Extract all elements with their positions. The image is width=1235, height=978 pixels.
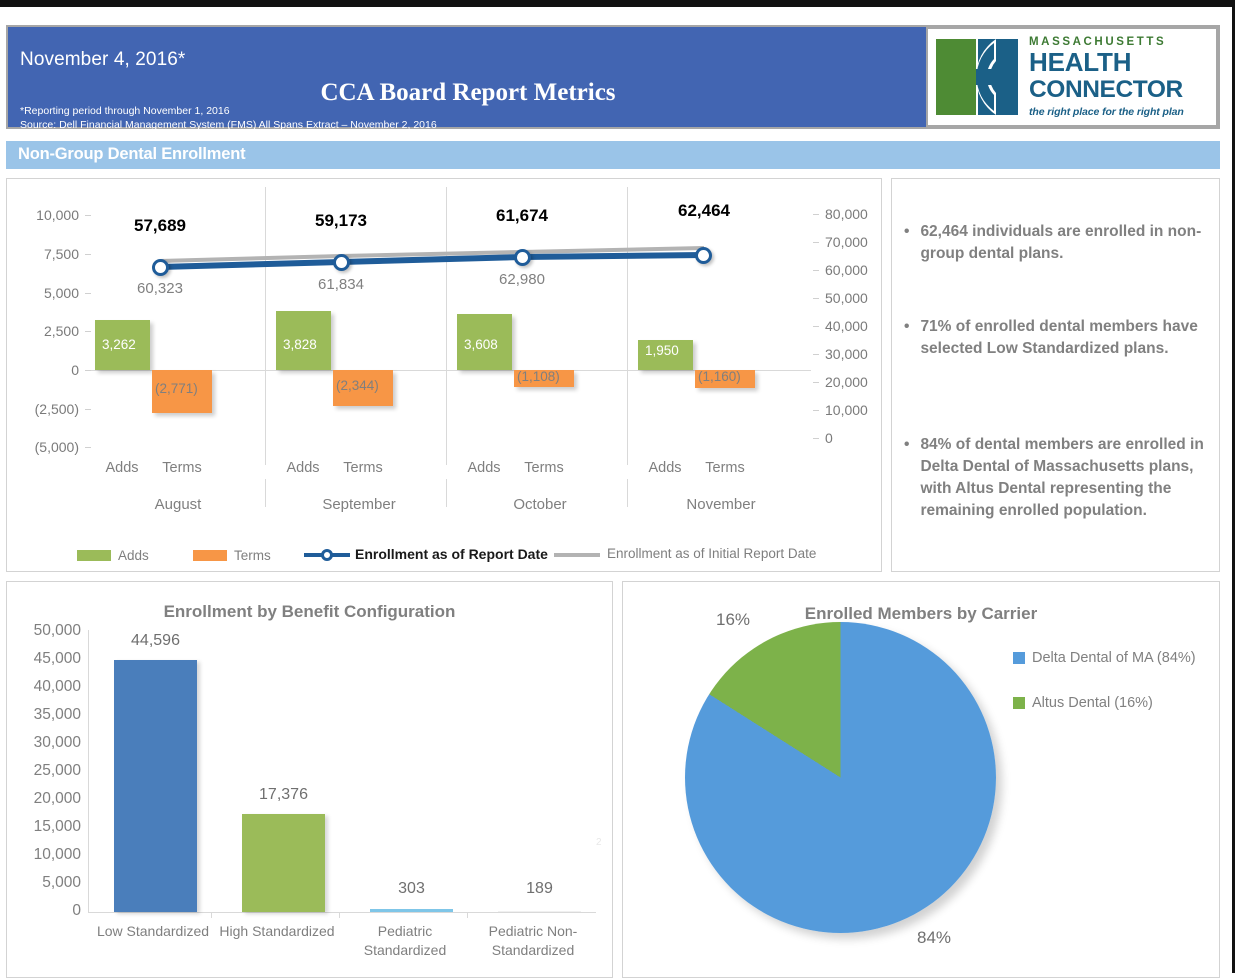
section-header-non-group-dental: Non-Group Dental Enrollment: [6, 141, 1220, 169]
bar-y-tick-20000: 20,000: [7, 790, 81, 808]
bar-y-tick-10000: 10,000: [7, 846, 81, 864]
point-label-initial-august: 60,323: [105, 280, 215, 297]
month-label-august: August: [91, 496, 265, 513]
point-label-report-october: 61,674: [462, 206, 582, 226]
bar-y-tick-50000: 50,000: [7, 622, 81, 640]
bar-x-tickmark: [211, 912, 212, 918]
bar-pediatric-standardized: [370, 909, 453, 912]
bar-x-axis-line: [88, 912, 596, 913]
point-label-report-november: 62,464: [644, 201, 764, 221]
bullet-icon: •: [904, 221, 909, 265]
note-item-1: • 62,464 individuals are enrolled in non…: [904, 221, 1204, 265]
bar-y-tick-25000: 25,000: [7, 762, 81, 780]
bar-x-tickmark: [467, 912, 468, 918]
month-separator: [446, 479, 447, 507]
bar-y-tick-40000: 40,000: [7, 678, 81, 696]
pie-legend-item-delta[interactable]: Delta Dental of MA (84%): [1013, 650, 1196, 666]
note-text-2: 71% of enrolled dental members have sele…: [920, 316, 1204, 360]
header-banner: November 4, 2016* CCA Board Report Metri…: [8, 27, 928, 127]
line-marker-september: [333, 254, 350, 271]
bar-x-label-high-standardized: High Standardized: [215, 922, 339, 941]
note-item-2: • 71% of enrolled dental members have se…: [904, 316, 1204, 360]
x-label-terms-august: Terms: [147, 460, 217, 476]
report-header: November 4, 2016* CCA Board Report Metri…: [6, 25, 1220, 129]
bullet-icon: •: [904, 434, 909, 522]
footnote-line-2: Source: Dell Financial Management System…: [20, 119, 437, 133]
bar-chart-title: Enrollment by Benefit Configuration: [7, 602, 612, 622]
x-label-terms-october: Terms: [509, 460, 579, 476]
bar-y-axis-line: [88, 630, 89, 913]
header-footnote: *Reporting period through November 1, 20…: [20, 105, 437, 132]
pie-legend-label-altus: Altus Dental (16%): [1032, 695, 1153, 711]
legend-label-terms: Terms: [234, 548, 271, 563]
footnote-line-1: *Reporting period through November 1, 20…: [20, 105, 437, 119]
pie-slices: [685, 622, 996, 933]
health-connector-logo: MASSACHUSETTS HEALTH CONNECTOR the right…: [926, 27, 1218, 127]
point-label-report-september: 59,173: [281, 211, 401, 231]
pie-legend-swatch-delta-icon: [1013, 652, 1025, 664]
legend-swatch-adds-icon: [77, 550, 111, 561]
pie-label-delta: 84%: [917, 928, 951, 948]
bar-x-label-pediatric-non-standardized: Pediatric Non-Standardized: [471, 922, 595, 960]
logo-h-mark-icon: [934, 37, 1020, 117]
logo-line-health: HEALTH: [1029, 49, 1184, 76]
legend-label-report-date: Enrollment as of Report Date: [355, 546, 548, 562]
bullet-icon: •: [904, 316, 909, 360]
x-label-terms-november: Terms: [690, 460, 760, 476]
line-marker-october: [514, 249, 531, 266]
bar-x-tickmark: [339, 912, 340, 918]
chart-artifact: 2: [596, 837, 602, 848]
logo-tagline: the right place for the right plan: [1029, 107, 1184, 118]
chart-enrolled-members-by-carrier: Enrolled Members by Carrier 16% 84% Delt…: [622, 581, 1220, 978]
month-separator: [627, 479, 628, 507]
x-label-terms-september: Terms: [328, 460, 398, 476]
legend-label-initial-report-date: Enrollment as of Initial Report Date: [607, 546, 816, 561]
pie-chart-title: Enrolled Members by Carrier: [623, 604, 1219, 624]
pie-legend-label-delta: Delta Dental of MA (84%): [1032, 650, 1196, 666]
pie-legend-swatch-altus-icon: [1013, 697, 1025, 709]
legend-line-marker-icon: [304, 547, 350, 561]
point-label-initial-september: 61,834: [286, 276, 396, 293]
bar-y-tick-5000: 5,000: [7, 874, 81, 892]
legend-item-initial-report-date[interactable]: Enrollment as of Initial Report Date: [554, 546, 816, 561]
note-text-3: 84% of dental members are enrolled in De…: [920, 434, 1204, 522]
key-takeaways-panel: • 62,464 individuals are enrolled in non…: [891, 178, 1220, 572]
bar-y-tick-45000: 45,000: [7, 650, 81, 668]
line-marker-november: [695, 247, 712, 264]
bar-value-pediatric-non-standardized: 189: [498, 880, 581, 898]
month-label-october: October: [453, 496, 627, 513]
bar-y-tick-35000: 35,000: [7, 706, 81, 724]
chart-enrollment-combo: 0 10,000 7,500 5,000 2,500 (2,500) (5,00…: [6, 178, 882, 572]
month-label-november: November: [634, 496, 808, 513]
legend-item-terms[interactable]: Terms: [193, 548, 271, 563]
legend-item-report-date[interactable]: Enrollment as of Report Date: [304, 546, 548, 562]
legend-line-gray-icon: [554, 547, 600, 561]
legend-item-adds[interactable]: Adds: [77, 548, 149, 563]
pie-legend-item-altus[interactable]: Altus Dental (16%): [1013, 695, 1153, 711]
legend-label-adds: Adds: [118, 548, 149, 563]
logo-wordmark: MASSACHUSETTS HEALTH CONNECTOR the right…: [1029, 37, 1184, 117]
chart-enrollment-by-benefit-configuration: Enrollment by Benefit Configuration 50,0…: [6, 581, 613, 978]
note-text-1: 62,464 individuals are enrolled in non-g…: [920, 221, 1204, 265]
month-separator: [265, 479, 266, 507]
legend-swatch-terms-icon: [193, 550, 227, 561]
note-item-3: • 84% of dental members are enrolled in …: [904, 434, 1204, 522]
pie-label-altus: 16%: [716, 610, 750, 630]
report-page: November 4, 2016* CCA Board Report Metri…: [0, 0, 1235, 973]
bar-pediatric-non-standardized: [498, 911, 581, 912]
bar-value-pediatric-standardized: 303: [370, 880, 453, 898]
bar-value-high-standardized: 17,376: [242, 786, 325, 804]
page-title: CCA Board Report Metrics: [8, 79, 928, 107]
logo-line-connector: CONNECTOR: [1029, 76, 1184, 103]
bar-x-label-pediatric-standardized: Pediatric Standardized: [347, 922, 463, 960]
point-label-report-august: 57,689: [100, 216, 220, 236]
report-date: November 4, 2016*: [20, 49, 185, 71]
bar-value-low-standardized: 44,596: [114, 632, 197, 650]
bar-y-tick-15000: 15,000: [7, 818, 81, 836]
bar-low-standardized: [114, 660, 197, 912]
bar-y-tick-0: 0: [7, 902, 81, 920]
point-label-initial-october: 62,980: [467, 271, 577, 288]
bar-x-label-low-standardized: Low Standardized: [91, 922, 215, 941]
bar-high-standardized: [242, 814, 325, 912]
section-title: Non-Group Dental Enrollment: [18, 145, 245, 164]
month-label-september: September: [272, 496, 446, 513]
bar-y-tick-30000: 30,000: [7, 734, 81, 752]
line-marker-august: [152, 259, 169, 276]
